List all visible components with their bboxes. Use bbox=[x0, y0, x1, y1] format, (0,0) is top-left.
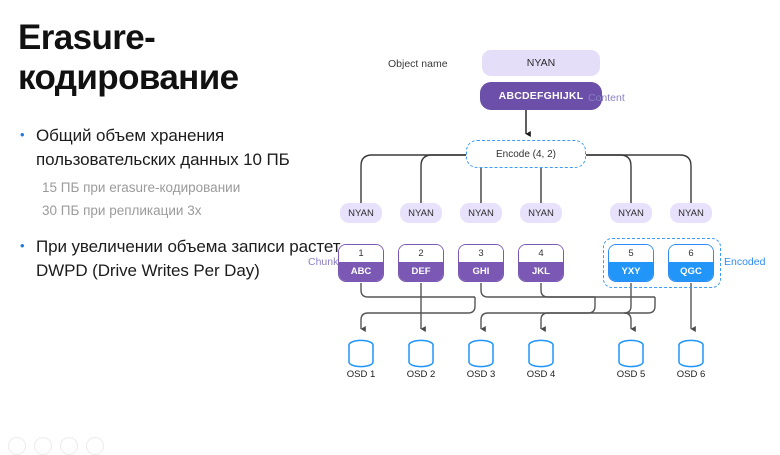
bullet-list: • Общий объем хранения пользовательских … bbox=[14, 124, 344, 283]
pagination-dot[interactable] bbox=[86, 437, 104, 455]
chunk-value: ABC bbox=[339, 262, 383, 281]
list-item: • Общий объем хранения пользовательских … bbox=[14, 124, 344, 172]
bullet-text: Общий объем хранения пользовательских да… bbox=[36, 124, 344, 172]
title-line-2: кодирование bbox=[18, 58, 239, 97]
page-title: Erasure- кодирование bbox=[18, 18, 344, 98]
chunk-number: 4 bbox=[519, 245, 563, 262]
chunk-value: GHI bbox=[459, 262, 503, 281]
bullet-dot-icon: • bbox=[14, 124, 36, 145]
osd-label: OSD 2 bbox=[396, 369, 446, 380]
object-content-value: ABCDEFGHIJKL bbox=[480, 82, 602, 110]
chunk-label: Chunk bbox=[308, 256, 338, 268]
chunk-card: 4 JKL bbox=[518, 244, 564, 282]
chunk-value: QGC bbox=[669, 262, 713, 281]
osd-label: OSD 5 bbox=[606, 369, 656, 380]
chunk-card: 1 ABC bbox=[338, 244, 384, 282]
object-name-value: NYAN bbox=[482, 50, 600, 76]
nyan-pill: NYAN bbox=[340, 203, 382, 223]
encoded-label: Encoded bbox=[724, 256, 765, 268]
nyan-pill: NYAN bbox=[460, 203, 502, 223]
osd-label: OSD 4 bbox=[516, 369, 566, 380]
bullet-text: При увеличении объема записи растет DWPD… bbox=[36, 235, 344, 283]
pagination-dot[interactable] bbox=[34, 437, 52, 455]
pagination-dot[interactable] bbox=[8, 437, 26, 455]
chunk-value: DEF bbox=[399, 262, 443, 281]
chunk-number: 1 bbox=[339, 245, 383, 262]
content-label: Content bbox=[588, 92, 625, 104]
chunk-value: YXY bbox=[609, 262, 653, 281]
osd-label: OSD 1 bbox=[336, 369, 386, 380]
osd-label: OSD 6 bbox=[666, 369, 716, 380]
osd-label: OSD 3 bbox=[456, 369, 506, 380]
slide-root: Erasure- кодирование • Общий объем хране… bbox=[0, 0, 780, 447]
bullet-subtext: 15 ПБ при erasure-кодировании bbox=[42, 176, 344, 199]
chunk-value: JKL bbox=[519, 262, 563, 281]
nyan-pill: NYAN bbox=[400, 203, 442, 223]
chunk-card-encoded: 5 YXY bbox=[608, 244, 654, 282]
title-line-1: Erasure- bbox=[18, 18, 155, 57]
chunk-card-encoded: 6 QGC bbox=[668, 244, 714, 282]
object-name-label: Object name bbox=[388, 58, 448, 70]
erasure-coding-diagram: Object name NYAN ABCDEFGHIJKL Content En… bbox=[330, 0, 780, 447]
bullet-subtext: 30 ПБ при репликации 3x bbox=[42, 199, 344, 222]
bullet-dot-icon: • bbox=[14, 235, 36, 256]
chunk-number: 5 bbox=[609, 245, 653, 262]
chunk-number: 2 bbox=[399, 245, 443, 262]
nyan-pill: NYAN bbox=[520, 203, 562, 223]
chunk-card: 2 DEF bbox=[398, 244, 444, 282]
chunk-card: 3 GHI bbox=[458, 244, 504, 282]
text-column: Erasure- кодирование • Общий объем хране… bbox=[14, 18, 344, 287]
nyan-pill: NYAN bbox=[670, 203, 712, 223]
chunk-number: 6 bbox=[669, 245, 713, 262]
osd-cylinder-icon bbox=[349, 340, 703, 366]
spacer bbox=[14, 222, 344, 235]
encode-box: Encode (4, 2) bbox=[466, 140, 586, 168]
chunk-number: 3 bbox=[459, 245, 503, 262]
nyan-pill: NYAN bbox=[610, 203, 652, 223]
pagination-dots[interactable] bbox=[8, 437, 104, 455]
list-item: • При увеличении объема записи растет DW… bbox=[14, 235, 344, 283]
pagination-dot[interactable] bbox=[60, 437, 78, 455]
